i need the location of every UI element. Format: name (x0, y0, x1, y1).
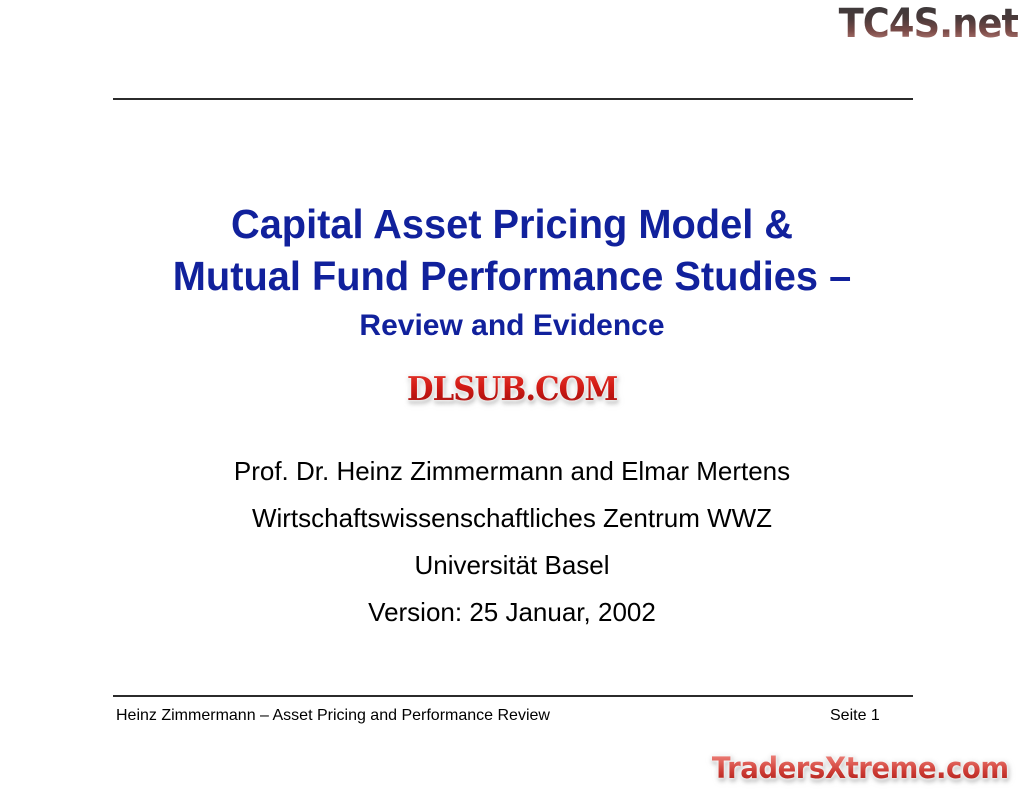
tradersxtreme-watermark-container: TradersXtreme.com (704, 751, 1016, 785)
page-title-line-1: Capital Asset Pricing Model & (15, 198, 1008, 250)
page-title-line-2: Mutual Fund Performance Studies – (15, 250, 1008, 302)
author-block: Prof. Dr. Heinz Zimmermann and Elmar Mer… (0, 448, 1024, 636)
dlsub-watermark-container: DLSUB.COM (0, 371, 1024, 407)
author-line-names: Prof. Dr. Heinz Zimmermann and Elmar Mer… (0, 448, 1024, 495)
author-line-institute: Wirtschaftswissenschaftliches Zentrum WW… (0, 495, 1024, 542)
slide-canvas: TC4S.net Capital Asset Pricing Model & M… (0, 0, 1024, 791)
page-number: Seite 1 (830, 705, 880, 727)
header-divider-rule (113, 98, 913, 100)
tc4s-logo-watermark: TC4S.net (838, 2, 1018, 46)
author-line-version: Version: 25 Januar, 2002 (0, 589, 1024, 636)
footer-divider-rule (113, 695, 913, 697)
dlsub-watermark: DLSUB.COM (407, 371, 618, 407)
footer-text: Heinz Zimmermann – Asset Pricing and Per… (116, 705, 550, 727)
tradersxtreme-watermark: TradersXtreme.com (711, 751, 1008, 785)
page-subtitle: Review and Evidence (0, 306, 1024, 346)
title-block: Capital Asset Pricing Model & Mutual Fun… (0, 198, 1024, 346)
author-line-university: Universität Basel (0, 542, 1024, 589)
